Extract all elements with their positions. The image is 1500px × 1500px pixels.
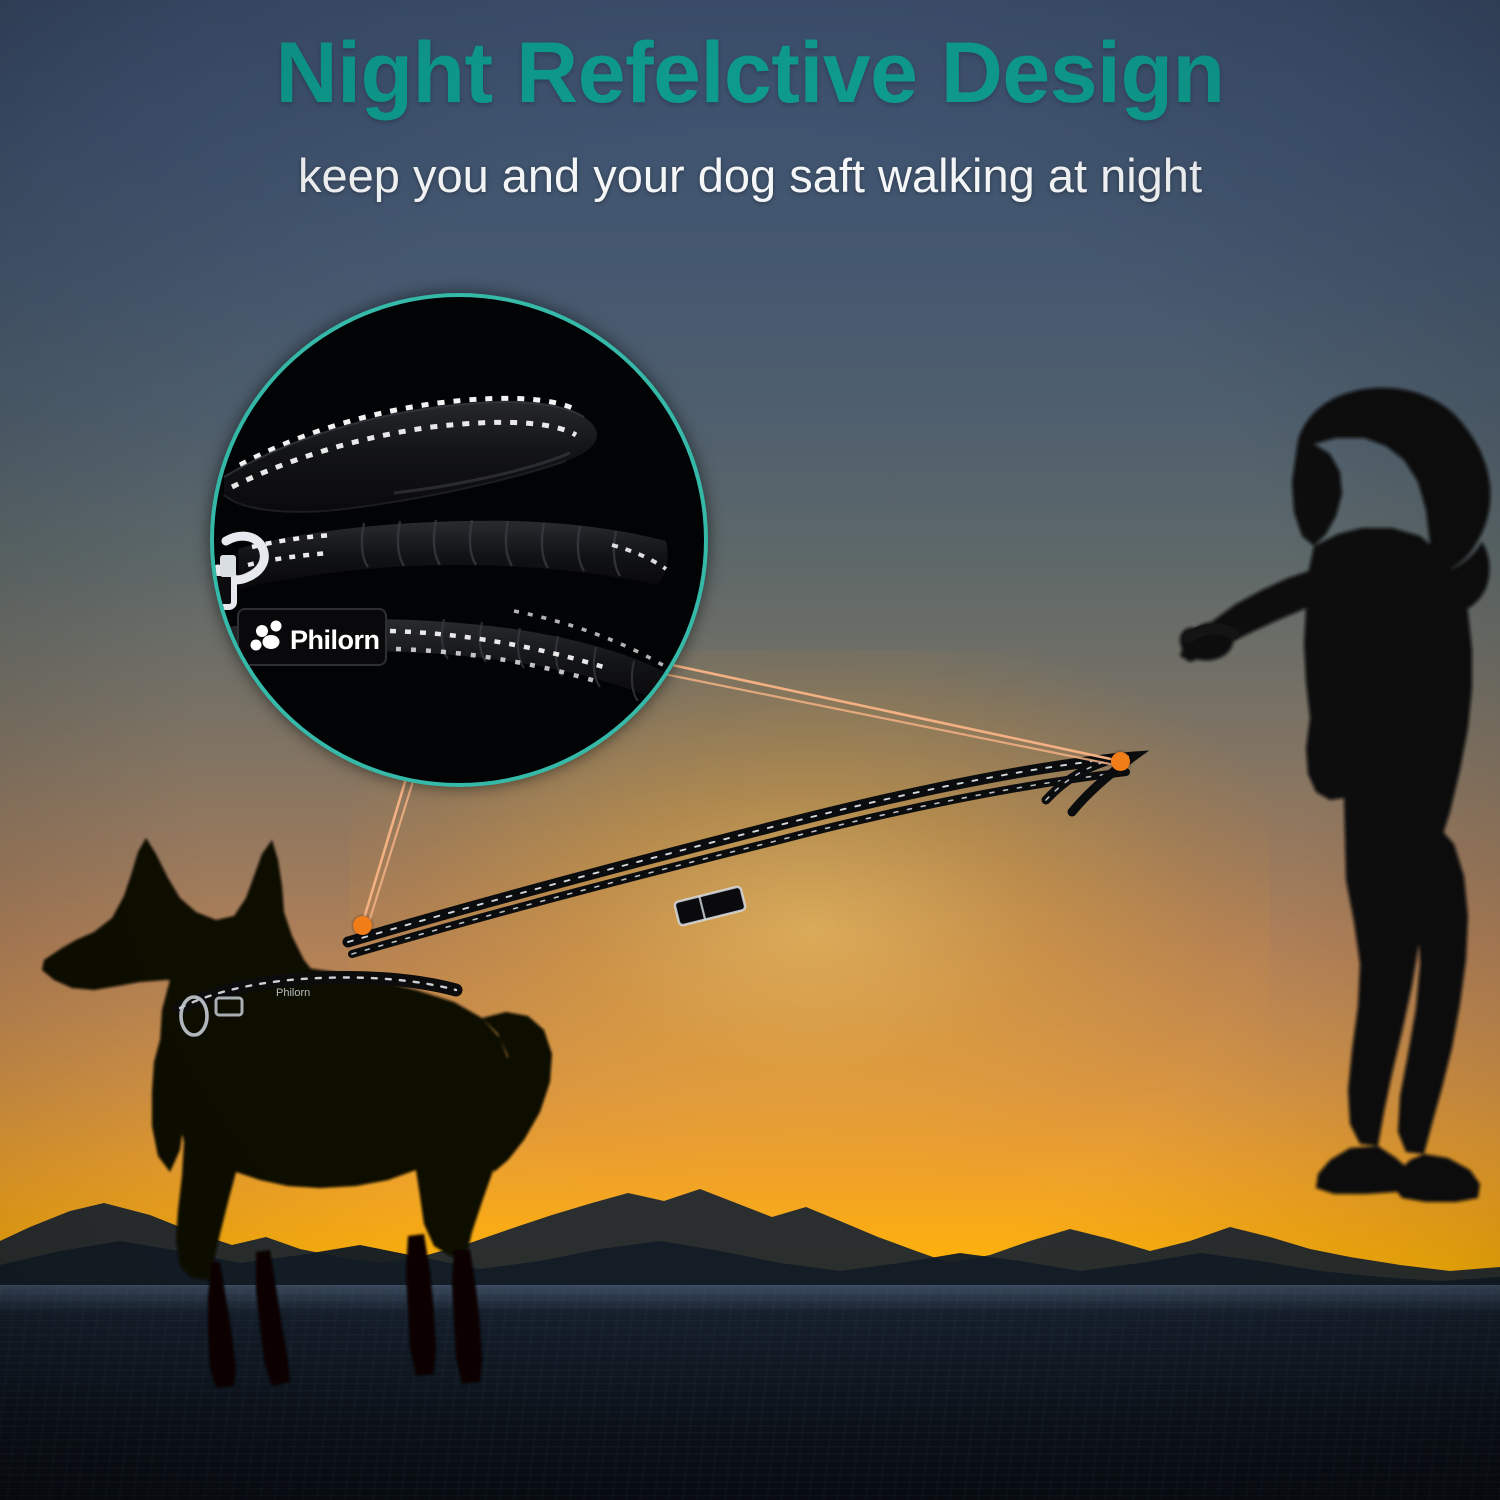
- handle-loop: [224, 398, 597, 512]
- callout-content: Philorn: [214, 297, 696, 775]
- bungee-section: [210, 520, 668, 607]
- hotspot-leash-handle[interactable]: [1111, 752, 1130, 771]
- product-detail-callout[interactable]: Philorn: [210, 293, 708, 787]
- page-subtitle: keep you and your dog saft walking at ni…: [0, 148, 1500, 203]
- hotspot-dog-collar[interactable]: [353, 916, 372, 935]
- brand-patch: Philorn: [238, 609, 386, 665]
- brand-label: Philorn: [290, 625, 380, 655]
- page-title: Night Refelctive Design: [0, 28, 1500, 118]
- product-marketing-image: Philorn: [0, 0, 1500, 1500]
- snow-ground: [0, 1285, 1500, 1500]
- lower-bungee-section: Philorn: [228, 609, 684, 709]
- snow-texture: [0, 1285, 1500, 1500]
